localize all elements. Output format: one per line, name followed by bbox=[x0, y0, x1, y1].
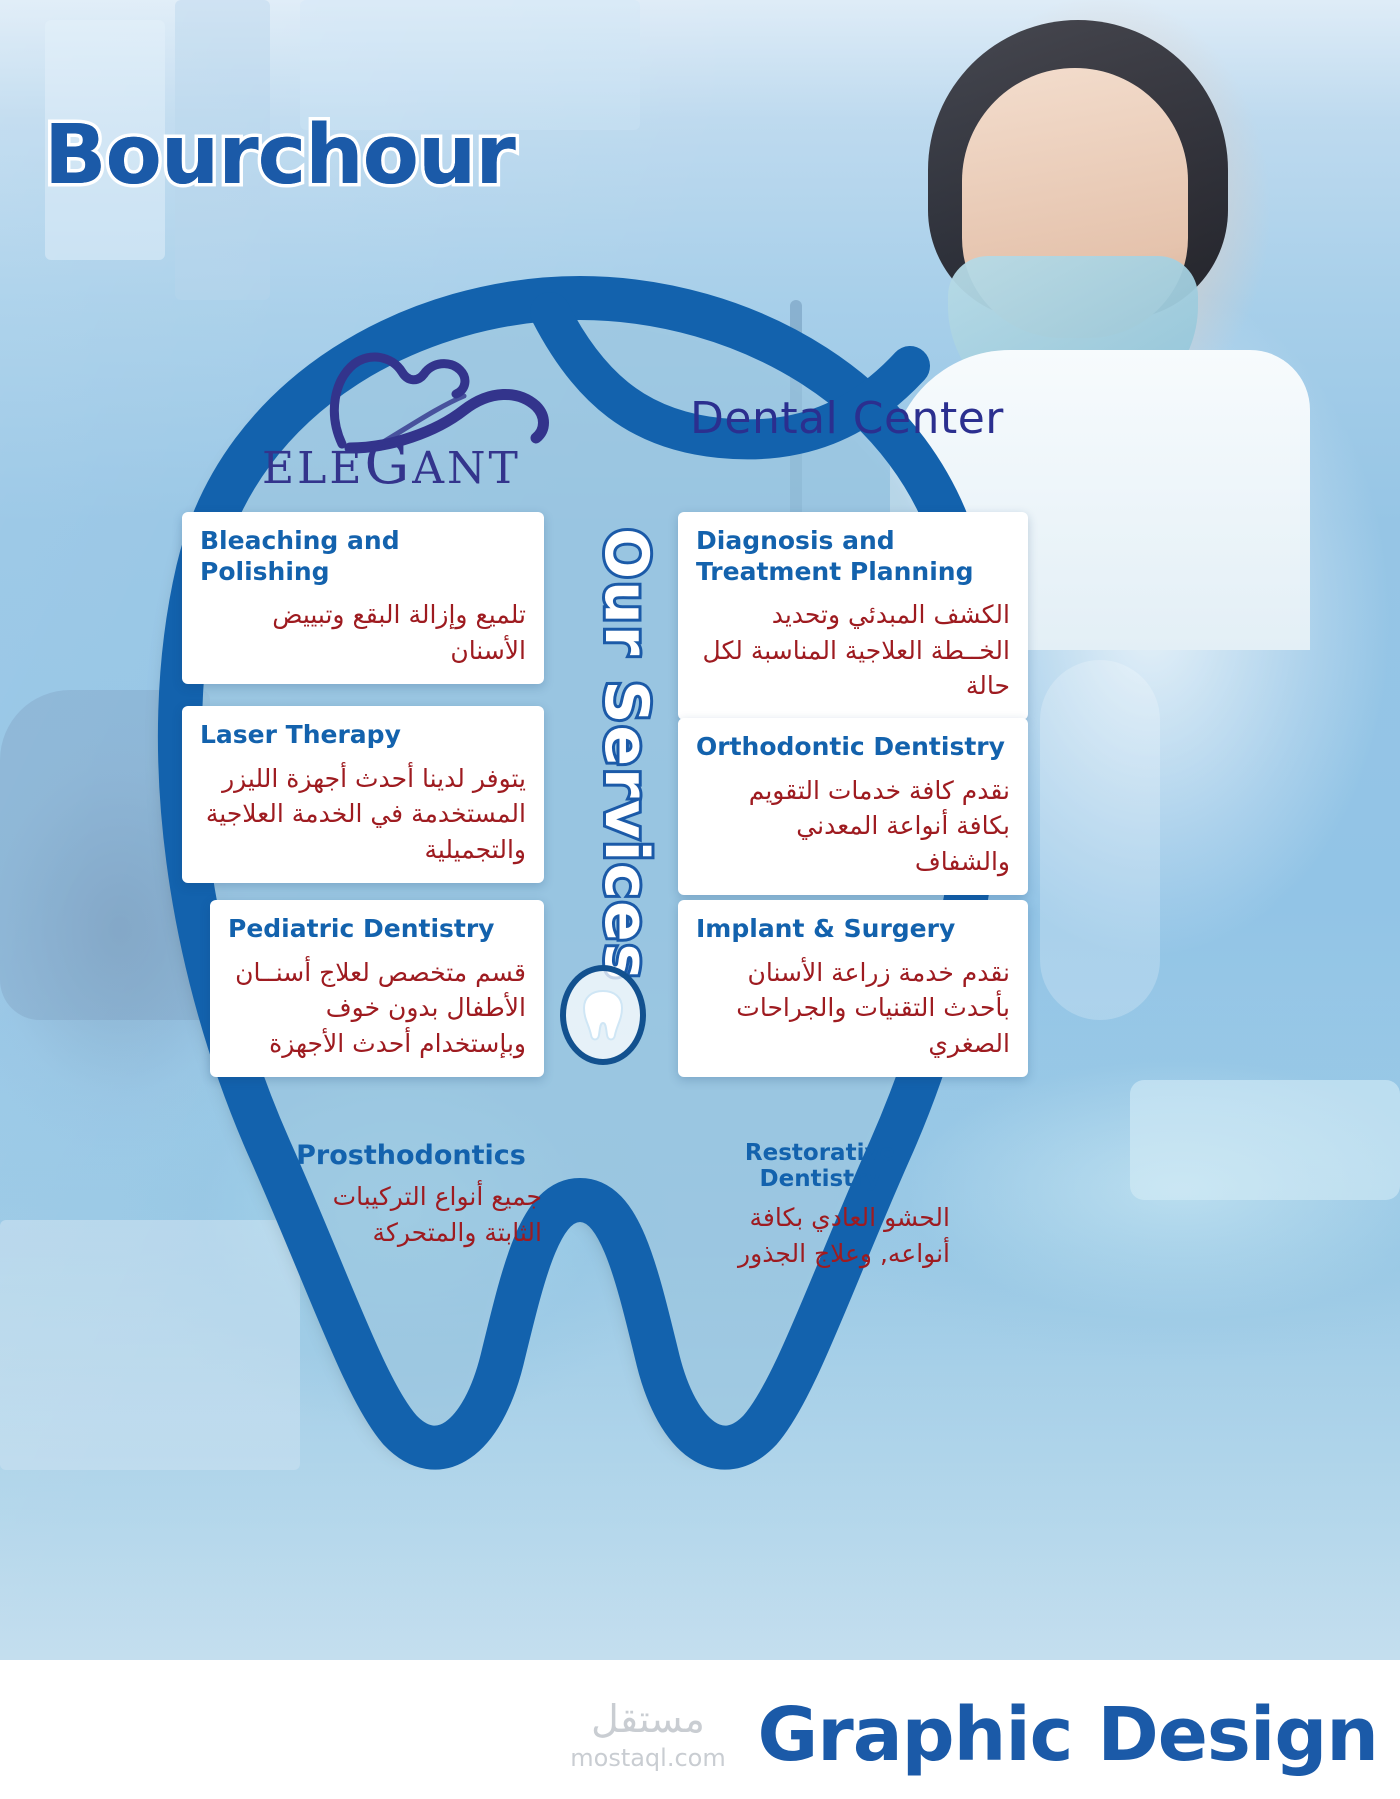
tooth-icon bbox=[580, 987, 626, 1043]
service-title-en: Restorative Dentistry bbox=[690, 1140, 950, 1192]
service-card-orthodontic-dentistry[interactable]: Orthodontic Dentistry نقدم كافة خدمات ال… bbox=[678, 718, 1028, 895]
service-title-en: Bleaching and Polishing bbox=[200, 526, 526, 587]
logo-text-part: ANT bbox=[412, 443, 521, 494]
service-title-ar: الحشو العادي بكافة أنواعه, وعلاج الجذور bbox=[690, 1200, 950, 1271]
footer-title: Graphic Design bbox=[758, 1692, 1379, 1778]
tooth-badge bbox=[560, 965, 646, 1065]
service-title-ar: تلميع وإزالة البقع وتبييض الأسنان bbox=[200, 597, 526, 668]
service-title-ar: جميع أنواع التركيبات الثابتة والمتحركة bbox=[280, 1179, 542, 1250]
service-block-prosthodontics[interactable]: Prosthodontics جميع أنواع التركيبات الثا… bbox=[280, 1140, 542, 1250]
our-services-banner: Our Services bbox=[556, 520, 696, 990]
service-title-ar: الكشف المبدئي وتحديد الخــطة العلاجية ال… bbox=[696, 597, 1010, 704]
service-card-implant-and-surgery[interactable]: Implant & Surgery نقدم خدمة زراعة الأسنا… bbox=[678, 900, 1028, 1077]
mostaql-watermark: مستقل mostaql.com bbox=[548, 1700, 748, 1772]
service-card-diagnosis-and-treatment-planning[interactable]: Diagnosis and Treatment Planning الكشف ا… bbox=[678, 512, 1028, 720]
logo-text-part: LE bbox=[297, 443, 364, 494]
logo-wordmark: ELEGANT bbox=[262, 432, 521, 497]
service-title-ar: نقدم كافة خدمات التقويم بكافة أنواعة الم… bbox=[696, 773, 1010, 880]
service-title-en: Prosthodontics bbox=[280, 1140, 542, 1171]
page-title: Bourchour bbox=[44, 108, 515, 203]
service-card-bleaching-and-polishing[interactable]: Bleaching and Polishing تلميع وإزالة الب… bbox=[182, 512, 544, 684]
logo-text-part: G bbox=[364, 432, 412, 497]
elegant-logo: ELEGANT bbox=[250, 336, 570, 496]
watermark-domain: mostaql.com bbox=[548, 1744, 748, 1772]
service-title-en: Pediatric Dentistry bbox=[228, 914, 526, 945]
background-equipment bbox=[1130, 1080, 1400, 1200]
service-title-en: Laser Therapy bbox=[200, 720, 526, 751]
service-title-ar: نقدم خدمة زراعة الأسنان بأحدث التقنيات و… bbox=[696, 955, 1010, 1062]
service-title-en: Orthodontic Dentistry bbox=[696, 732, 1010, 763]
service-title-en: Implant & Surgery bbox=[696, 914, 1010, 945]
background-assistant bbox=[1040, 660, 1160, 1020]
logo-text-part: E bbox=[262, 443, 297, 494]
service-block-restorative-dentistry[interactable]: Restorative Dentistry الحشو العادي بكافة… bbox=[690, 1140, 950, 1271]
our-services-label: Our Services bbox=[591, 528, 661, 981]
service-card-pediatric-dentistry[interactable]: Pediatric Dentistry قسم متخصص لعلاج أسنـ… bbox=[210, 900, 544, 1077]
poster-canvas: Bourchour Bourchour ELEGANT Dental Cente… bbox=[0, 0, 1400, 1799]
service-title-ar: قسم متخصص لعلاج أسنــان الأطفال بدون خوف… bbox=[228, 955, 526, 1062]
service-title-en: Diagnosis and Treatment Planning bbox=[696, 526, 1010, 587]
dental-center-label: Dental Center bbox=[690, 393, 1004, 444]
watermark-arabic: مستقل bbox=[548, 1700, 748, 1738]
service-card-laser-therapy[interactable]: Laser Therapy يتوفر لدينا أحدث أجهزة الل… bbox=[182, 706, 544, 883]
service-title-ar: يتوفر لدينا أحدث أجهزة الليزر المستخدمة … bbox=[200, 761, 526, 868]
